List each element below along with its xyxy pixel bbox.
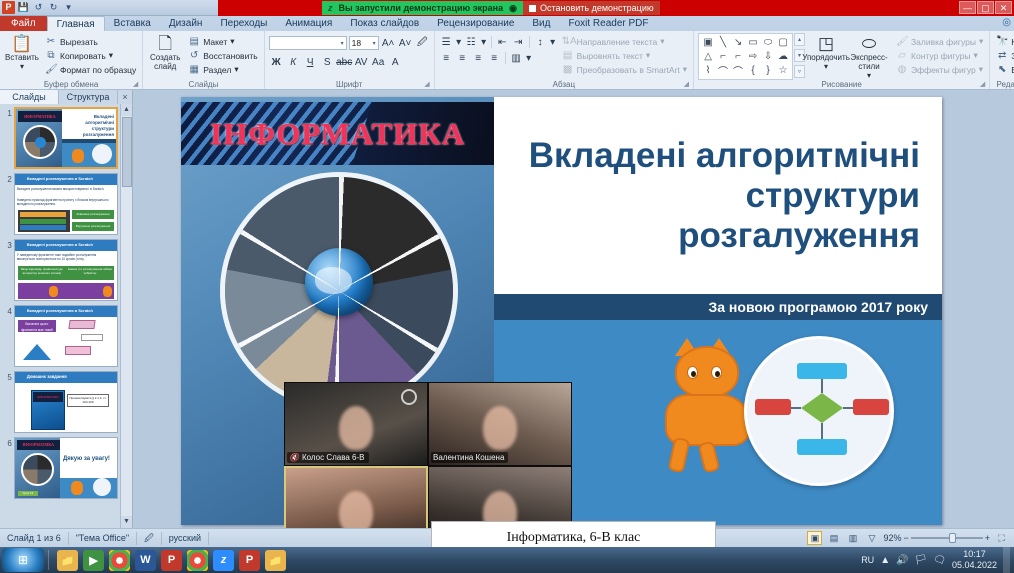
copy-dropdown-icon[interactable]: ▾ (109, 50, 113, 61)
drawing-group-label: Рисование ◢ (698, 80, 985, 90)
participant-tile-1[interactable]: 🔇 Колос Слава 6-В (284, 382, 428, 466)
help-icon[interactable]: ◎ (1002, 17, 1011, 28)
slide-number-1: 1 (1, 107, 12, 119)
increase-font-size-icon[interactable]: A˄ (381, 36, 396, 50)
shadow-button[interactable]: S (320, 55, 335, 69)
cursor-select-icon: ⬉ (996, 64, 1008, 75)
tab-insert[interactable]: Вставка (105, 16, 160, 31)
slide-number-5: 5 (1, 371, 12, 383)
reading-view-icon[interactable]: ▥ (845, 531, 860, 545)
copy-button[interactable]: ⧉ Копировать ▾ (43, 49, 138, 62)
bold-button[interactable]: Ж (269, 55, 284, 69)
right-arrow-shape-icon[interactable]: ⇨ (746, 50, 760, 63)
clipboard-dialog-launcher-icon[interactable]: ◢ (133, 80, 138, 90)
layout-button[interactable]: ▤ Макет ▾ (186, 35, 259, 48)
tab-outline[interactable]: Структура (59, 90, 118, 104)
scroll-up-icon[interactable]: ▲ (121, 104, 133, 116)
zoom-video-panel[interactable]: 🔇 Колос Слава 6-В Валентина Кошена iPhon… (284, 382, 572, 528)
shape-outline-button[interactable]: ▱ Контур фигуры ▾ (894, 49, 985, 62)
align-text-label: Выровнять текст (577, 51, 643, 61)
slide-thumbnail-3[interactable]: 3 Вкладені розгалуження в Scratch У наве… (0, 239, 120, 305)
tab-slideshow[interactable]: Показ слайдов (341, 16, 428, 31)
stop-share-label: Остановить демонстрацию (540, 3, 654, 13)
save-icon[interactable]: 💾 (17, 1, 30, 14)
clear-formatting-icon[interactable]: 🖉 (415, 36, 430, 50)
screen-share-notification: z Вы запустили демонстрацию экрана ◉ Ост… (322, 1, 660, 15)
tray-date: 05.04.2022 (952, 560, 997, 570)
arrange-dropdown-icon[interactable]: ▾ (824, 62, 828, 71)
caption-line-1: Інформатика, 6-В клас (507, 528, 641, 547)
tray-expand-icon[interactable]: ▲ (880, 555, 890, 566)
paintbrush-icon: 🖌 (45, 64, 57, 75)
reset-icon: ↺ (188, 50, 200, 61)
arrange-icon: ◳ (818, 34, 834, 53)
system-tray: RU ▲ 🔊 🏳 🗨 10:17 05.04.2022 (861, 547, 1014, 573)
cut-button[interactable]: ✂ Вырезать (43, 35, 138, 48)
volume-icon[interactable]: 🔊 (896, 555, 908, 566)
powerpoint-logo-icon: P (2, 1, 15, 14)
main-area: Слайды Структура × 1 ІНФОРМАТИКА Вкладен… (0, 90, 1014, 528)
tab-animation[interactable]: Анимация (276, 16, 341, 31)
slide-number-2: 2 (1, 173, 12, 185)
slide-panel-scrollbar[interactable]: ▲ ▼ (120, 104, 132, 528)
bullets-icon[interactable]: ☰ (439, 35, 454, 49)
down-arrow-shape-icon[interactable]: ⇩ (761, 50, 775, 63)
tab-slides[interactable]: Слайды (0, 90, 59, 104)
zoom-out-button[interactable]: − (903, 533, 908, 543)
shapes-gallery[interactable]: ▣ ╲ ↘ ▭ ⬭ ▢ △ ⌐ ⌐ ⇨ ⇩ ☁ ⌇ ⌒ ⌒ { } (698, 33, 793, 80)
cut-label: Вырезать (60, 37, 98, 47)
slideshow-view-icon[interactable]: ▽ (864, 531, 879, 545)
justify-icon[interactable]: ≡ (487, 51, 502, 65)
decrease-indent-icon[interactable]: ⇤ (495, 35, 510, 49)
slide-thumbnail-5[interactable]: 5 Домашнє завдання ІНФОРМАТИКА Проаналіз… (0, 371, 120, 437)
powerpoint-taskbar-icon[interactable]: P (161, 550, 182, 571)
ribbon-group-font: ▾ 18 ▾ A˄ A˅ 🖉 Ж К Ч S abc AV Aa A (265, 31, 435, 90)
slide-3-title: Вкладені розгалуження в Scratch (27, 242, 93, 247)
slide-title: Вкладені алгоритмічні структури розгалуж… (494, 136, 920, 256)
replace-icon: ⇄ (996, 50, 1008, 61)
tab-home[interactable]: Главная (47, 16, 105, 31)
shape-outline-label: Контур фигуры (911, 51, 970, 61)
curve-shape-icon[interactable]: ⌒ (716, 64, 730, 77)
convert-to-smartart-label: Преобразовать в SmartArt (577, 65, 680, 75)
star-shape-icon[interactable]: ☆ (776, 64, 790, 77)
layout-icon: ▤ (188, 36, 200, 47)
clipboard-group-label: Буфер обмена ◢ (4, 80, 138, 90)
paragraph-group-label: Абзац ◢ (439, 80, 689, 90)
scroll-down-icon[interactable]: ▼ (121, 516, 133, 528)
new-slide-label: Создать слайд (147, 53, 183, 71)
flow-right-branch-node (853, 399, 889, 415)
font-name-dropdown-icon[interactable]: ▾ (341, 40, 344, 47)
section-button[interactable]: ▦ Раздел ▾ (186, 63, 259, 76)
slide-2-title: Вкладені розгалуження в Scratch (27, 176, 93, 181)
slide-number-4: 4 (1, 305, 12, 317)
slide-panel-tabs: Слайды Структура × (0, 90, 132, 104)
participant-tile-2[interactable]: Валентина Кошена (428, 382, 572, 466)
align-left-icon[interactable]: ≡ (439, 51, 454, 65)
ribbon-group-editing: 🔭 Найти ⇄ Заменить ▾ ⬉ Выделить ▾ Редакт… (990, 31, 1014, 90)
chrome-window-taskbar-icon[interactable] (187, 550, 208, 571)
flow-left-branch-node (755, 399, 791, 415)
shape-effects-button[interactable]: ◍ Эффекты фигур ▾ (894, 63, 985, 76)
shape-effects-dropdown-icon[interactable]: ▾ (979, 64, 983, 75)
language-tray-indicator[interactable]: RU (861, 555, 874, 565)
tab-view[interactable]: Вид (523, 16, 559, 31)
elbow-arrow-icon[interactable]: ⌐ (731, 50, 745, 63)
shape-outline-dropdown-icon[interactable]: ▾ (974, 50, 978, 61)
slide-thumb-image-1: ІНФОРМАТИКА Вкладені алгоритмічні структ… (14, 107, 118, 169)
align-text-button[interactable]: ▤ Выровнять текст ▾ (560, 49, 689, 62)
quick-styles-label: Экспресс-стили (847, 53, 891, 71)
layout-label: Макет (203, 37, 227, 47)
find-button[interactable]: 🔭 Найти (994, 35, 1014, 48)
slide-thumb-image-6: ІНФОРМАТИКА Дякую за увагу! Урок 13 (14, 437, 118, 499)
close-button[interactable]: ✕ (995, 1, 1012, 14)
decrease-font-size-icon[interactable]: A˅ (398, 36, 413, 50)
status-bar-right: ▣ ▤ ▥ ▽ 92% − + ⛶ (807, 531, 1014, 545)
align-right-icon[interactable]: ≡ (471, 51, 486, 65)
select-button[interactable]: ⬉ Выделить ▾ (994, 63, 1014, 76)
slide-thumbnail-1[interactable]: 1 ІНФОРМАТИКА Вкладені алгоритмічні стру… (0, 107, 120, 173)
language-indicator[interactable]: русский (162, 532, 209, 545)
slides-group-label: Слайды (147, 80, 259, 90)
slide-5-title: Домашнє завдання (27, 374, 67, 379)
text-direction-label: Направление текста (577, 37, 658, 47)
windows-taskbar: ⊞ 📁 ▶ W P z P 📁 RU ▲ 🔊 🏳 🗨 10:17 05.04.2… (0, 547, 1014, 573)
shapes-scroll-up-icon[interactable]: ▴ (794, 33, 805, 46)
new-slide-icon: 🗋 (158, 34, 172, 53)
zoom-percent: 92% (883, 533, 901, 543)
informatika-banner: ІНФОРМАТИКА (181, 102, 494, 165)
screen-share-options-icon[interactable]: ◉ (509, 3, 517, 14)
zoom-slider[interactable]: 92% − + (883, 533, 990, 543)
slide-thumb-image-4: Вкладені розгалуження в Scratch Виконати… (14, 305, 118, 367)
line-shape-icon[interactable]: ╲ (716, 36, 730, 49)
character-spacing-button[interactable]: AV (354, 55, 369, 69)
tab-transitions[interactable]: Переходы (211, 16, 276, 31)
powerpoint-window-taskbar-icon[interactable]: P (239, 550, 260, 571)
screen-share-message: Вы запустили демонстрацию экрана (339, 3, 504, 13)
taskbar-items: 📁 ▶ W P z P 📁 (53, 550, 286, 571)
strikethrough-button[interactable]: abc (337, 55, 352, 69)
font-color-button[interactable]: A (388, 55, 403, 69)
convert-to-smartart-button[interactable]: ▩ Преобразовать в SmartArt ▾ (560, 63, 689, 76)
tab-foxit-reader-pdf[interactable]: Foxit Reader PDF (559, 16, 657, 31)
change-case-button[interactable]: Aa (371, 55, 386, 69)
arrange-button[interactable]: ◳ Упорядочить ▾ (808, 33, 844, 71)
shape-fill-label: Заливка фигуры (911, 37, 976, 47)
tab-file[interactable]: Файл (0, 16, 47, 31)
reset-button[interactable]: ↺ Восстановить (186, 49, 259, 62)
smartart-dropdown-icon[interactable]: ▾ (683, 64, 687, 75)
scrollbar-thumb[interactable] (122, 117, 132, 187)
zoom-taskbar-icon[interactable]: z (213, 550, 234, 571)
slide-editing-stage[interactable]: ІНФОРМАТИКА Вкладені алгоритмічні структ… (133, 90, 1014, 528)
undo-icon[interactable]: ↺ (32, 1, 45, 14)
ribbon-group-clipboard: 📋 Вставить ▾ ✂ Вырезать ⧉ Копировать ▾ 🖌… (0, 31, 143, 90)
section-label: Раздел (203, 65, 231, 75)
paste-dropdown-icon[interactable]: ▾ (20, 62, 24, 71)
copy-icon: ⧉ (45, 50, 57, 61)
slide-thumb-image-2: Вкладені розгалуження в Scratch Вкладені… (14, 173, 118, 235)
slide-sorter-view-icon[interactable]: ▤ (826, 531, 841, 545)
slide-number-6: 6 (1, 437, 12, 449)
format-painter-button[interactable]: 🖌 Формат по образцу (43, 63, 138, 76)
numbering-dropdown-icon[interactable]: ▾ (480, 35, 488, 49)
flowchart-emblem (744, 336, 894, 486)
flow-end-node (797, 439, 847, 455)
slide-thumbnail-6[interactable]: 6 ІНФОРМАТИКА Дякую за увагу! Урок 13 (0, 437, 120, 503)
shape-fill-button[interactable]: 🖌 Заливка фигуры ▾ (894, 35, 985, 48)
folder-window-taskbar-icon[interactable]: 📁 (265, 550, 286, 571)
globe-icon (305, 248, 373, 316)
font-size-dropdown-icon[interactable]: ▾ (373, 40, 376, 47)
text-direction-dropdown-icon[interactable]: ▾ (660, 36, 664, 47)
paragraph-dialog-launcher-icon[interactable]: ◢ (684, 80, 689, 90)
shape-fill-icon: 🖌 (896, 36, 908, 47)
bullets-dropdown-icon[interactable]: ▾ (455, 35, 463, 49)
font-name-input[interactable]: ▾ (269, 36, 347, 50)
participant-name-1: 🔇 Колос Слава 6-В (287, 452, 369, 463)
slide-subtitle: За новою програмою 2017 року (708, 299, 928, 315)
slide-navigation-panel: Слайды Структура × 1 ІНФОРМАТИКА Вкладен… (0, 90, 133, 528)
arc-shape-icon[interactable]: ⌒ (731, 64, 745, 77)
zoom-in-button[interactable]: + (985, 533, 990, 543)
zoom-handle[interactable] (949, 533, 956, 543)
slide-4-title: Вкладені розгалуження в Scratch (27, 308, 93, 313)
explorer-taskbar-icon[interactable]: 📁 (57, 550, 78, 571)
maximize-button[interactable]: ▢ (977, 1, 994, 14)
flow-start-node (797, 363, 847, 379)
shape-fill-dropdown-icon[interactable]: ▾ (979, 36, 983, 47)
zoom-track[interactable] (911, 537, 983, 539)
ribbon-group-drawing: ▣ ╲ ↘ ▭ ⬭ ▢ △ ⌐ ⌐ ⇨ ⇩ ☁ ⌇ ⌒ ⌒ { } (694, 31, 990, 90)
tab-review[interactable]: Рецензирование (428, 16, 523, 31)
action-center-icon[interactable]: 🗨 (933, 555, 946, 566)
banner-text: ІНФОРМАТИКА (210, 116, 465, 152)
participant-tile-3[interactable]: iPhone Roman (284, 466, 428, 528)
line-spacing-icon[interactable]: ↕ (533, 35, 548, 49)
photo-wheel-graphic (225, 177, 453, 405)
section-dropdown-icon[interactable]: ▾ (234, 64, 238, 75)
replace-button[interactable]: ⇄ Заменить ▾ (994, 49, 1014, 62)
slide-title-zone[interactable]: Вкладені алгоритмічні структури розгалуж… (494, 97, 942, 294)
shape-outline-icon: ▱ (896, 50, 908, 61)
textbox-shape-icon[interactable]: ▣ (701, 36, 715, 49)
new-slide-button[interactable]: 🗋 Создать слайд (147, 33, 183, 71)
ribbon-tab-bar: Файл Главная Вставка Дизайн Переходы Ани… (0, 16, 1014, 31)
normal-view-icon[interactable]: ▣ (807, 531, 822, 545)
shape-effects-label: Эффекты фигур (911, 65, 976, 75)
slide-number-3: 3 (1, 239, 12, 251)
binoculars-icon: 🔭 (996, 36, 1008, 47)
line-spacing-dropdown-icon[interactable]: ▾ (549, 35, 557, 49)
slide-thumb-image-3: Вкладені розгалуження в Scratch У наведе… (14, 239, 118, 301)
align-text-icon: ▤ (562, 50, 574, 61)
cloud-shape-icon[interactable]: ☁ (776, 50, 790, 63)
slide-counter: Слайд 1 из 6 (0, 532, 69, 545)
stop-icon (529, 5, 536, 12)
stop-share-button[interactable]: Остановить демонстрацию (523, 1, 660, 15)
redo-icon[interactable]: ↻ (47, 1, 60, 14)
clock[interactable]: 10:17 05.04.2022 (952, 549, 997, 571)
participant-tile-4[interactable]: 🔇 Мар'яна Голованенко (428, 466, 572, 528)
underline-button[interactable]: Ч (303, 55, 318, 69)
quick-access-toolbar: P 💾 ↺ ↻ ▾ (0, 1, 75, 14)
text-direction-icon: ⇅A (562, 36, 574, 47)
tab-design[interactable]: Дизайн (160, 16, 212, 31)
layout-dropdown-icon[interactable]: ▾ (230, 36, 234, 47)
theme-name[interactable]: "Тема Office" (69, 532, 137, 545)
spellcheck-icon[interactable]: 🖉 (137, 532, 162, 545)
window-controls: — ▢ ✕ (959, 1, 1012, 14)
font-group-label: Шрифт ◢ (269, 80, 430, 90)
ribbon-group-paragraph: ☰ ▾ ☷ ▾ ⇤ ⇥ ↕ ▾ ≡ ≡ ≡ ≡ ▥ (435, 31, 694, 90)
paste-label: Вставить (5, 53, 39, 62)
section-icon: ▦ (188, 64, 200, 75)
drawing-dialog-launcher-icon[interactable]: ◢ (980, 80, 985, 90)
slide-thumbnail-4[interactable]: 4 Вкладені розгалуження в Scratch Викона… (0, 305, 120, 371)
paste-button[interactable]: 📋 Вставить ▾ (4, 33, 40, 71)
quick-styles-icon: ⬭ (862, 34, 877, 53)
tray-time: 10:17 (963, 549, 986, 559)
quick-styles-button[interactable]: ⬭ Экспресс-стили ▾ (847, 33, 891, 80)
numbering-icon[interactable]: ☷ (464, 35, 479, 49)
shapes-more-icon[interactable]: ▿ (794, 65, 805, 78)
muted-mic-icon: 🔇 (289, 453, 299, 462)
fit-to-window-icon[interactable]: ⛶ (994, 531, 1009, 545)
title-bar: P 💾 ↺ ↻ ▾ z Вы запустили демонстрацию эк… (0, 0, 1014, 16)
italic-button[interactable]: К (286, 55, 301, 69)
align-text-dropdown-icon[interactable]: ▾ (646, 50, 650, 61)
shape-effects-icon: ◍ (896, 64, 908, 75)
arrange-label: Упорядочить (802, 53, 850, 62)
customize-quick-access-icon[interactable]: ▾ (62, 1, 75, 14)
quick-styles-dropdown-icon[interactable]: ▾ (867, 71, 871, 80)
increase-indent-icon[interactable]: ⇥ (511, 35, 526, 49)
elbow-connector-icon[interactable]: ⌐ (716, 50, 730, 63)
rounded-rect-shape-icon[interactable]: ▢ (776, 36, 790, 49)
slide-thumb-image-5: Домашнє завдання ІНФОРМАТИКА Проаналізув… (14, 371, 118, 433)
ribbon-group-slides: 🗋 Создать слайд ▤ Макет ▾ ↺ Восстановить… (143, 31, 264, 90)
triangle-shape-icon[interactable]: △ (701, 50, 715, 63)
chrome-taskbar-icon[interactable] (109, 550, 130, 571)
text-direction-button[interactable]: ⇅A Направление текста ▾ (560, 35, 689, 48)
brace-right-icon[interactable]: } (761, 64, 775, 77)
rectangle-shape-icon[interactable]: ▭ (746, 36, 760, 49)
freeform-shape-icon[interactable]: ⌇ (701, 64, 715, 77)
font-dialog-launcher-icon[interactable]: ◢ (424, 80, 429, 90)
reset-label: Восстановить (203, 51, 257, 61)
slide-6-title: Дякую за увагу! (60, 456, 113, 462)
copy-label: Копировать (60, 51, 106, 61)
word-taskbar-icon[interactable]: W (135, 550, 156, 571)
paste-icon: 📋 (11, 34, 32, 53)
columns-icon[interactable]: ▥ (509, 51, 524, 65)
arrow-shape-icon[interactable]: ↘ (731, 36, 745, 49)
show-desktop-button[interactable] (1003, 547, 1010, 573)
participant-name-2: Валентина Кошена (431, 452, 508, 463)
align-center-icon[interactable]: ≡ (455, 51, 470, 65)
columns-dropdown-icon[interactable]: ▾ (525, 51, 533, 65)
ribbon: 📋 Вставить ▾ ✂ Вырезать ⧉ Копировать ▾ 🖌… (0, 31, 1014, 90)
format-painter-label: Формат по образцу (60, 65, 136, 75)
brace-left-icon[interactable]: { (746, 64, 760, 77)
scissors-icon: ✂ (45, 36, 57, 47)
flow-decision-node (801, 393, 843, 423)
font-size-input[interactable]: 18 ▾ (349, 36, 379, 50)
slide-thumbnail-2[interactable]: 2 Вкладені розгалуження в Scratch Вкладе… (0, 173, 120, 239)
zoom-app-icon: z (328, 3, 333, 13)
start-button[interactable]: ⊞ (2, 548, 44, 572)
slide-thumbnail-list[interactable]: 1 ІНФОРМАТИКА Вкладені алгоритмічні стру… (0, 104, 120, 528)
oval-shape-icon[interactable]: ⬭ (761, 36, 775, 49)
wall-clock-icon (401, 389, 417, 405)
media-taskbar-icon[interactable]: ▶ (83, 550, 104, 571)
smartart-icon: ▩ (562, 64, 574, 75)
network-icon[interactable]: 🏳 (915, 555, 928, 566)
minimize-button[interactable]: — (959, 1, 976, 14)
slide-subtitle-bar[interactable]: За новою програмою 2017 року (494, 294, 942, 320)
editing-group-label: Редактирование (994, 80, 1014, 90)
close-panel-icon[interactable]: × (118, 90, 132, 104)
screen-share-status: z Вы запустили демонстрацию экрана ◉ (322, 1, 523, 15)
